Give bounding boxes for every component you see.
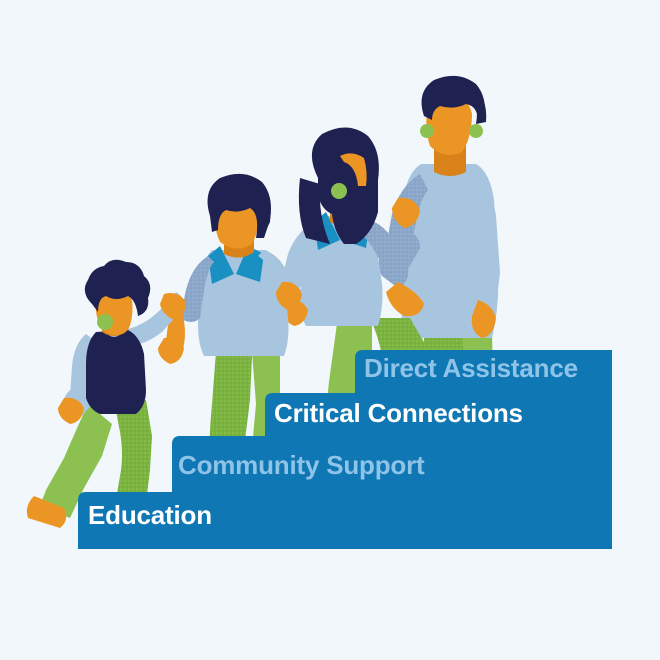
step-community-support (172, 436, 612, 492)
step-critical-connections (265, 393, 612, 436)
step-direct-assistance (355, 350, 612, 393)
background-fill (0, 0, 660, 660)
earring (469, 124, 483, 138)
step-education (78, 492, 612, 549)
earring (97, 314, 113, 330)
staircase-illustration-svg (0, 0, 660, 660)
earring (331, 183, 347, 199)
earring (420, 124, 434, 138)
illustration-canvas: Education Community Support Critical Con… (0, 0, 660, 660)
